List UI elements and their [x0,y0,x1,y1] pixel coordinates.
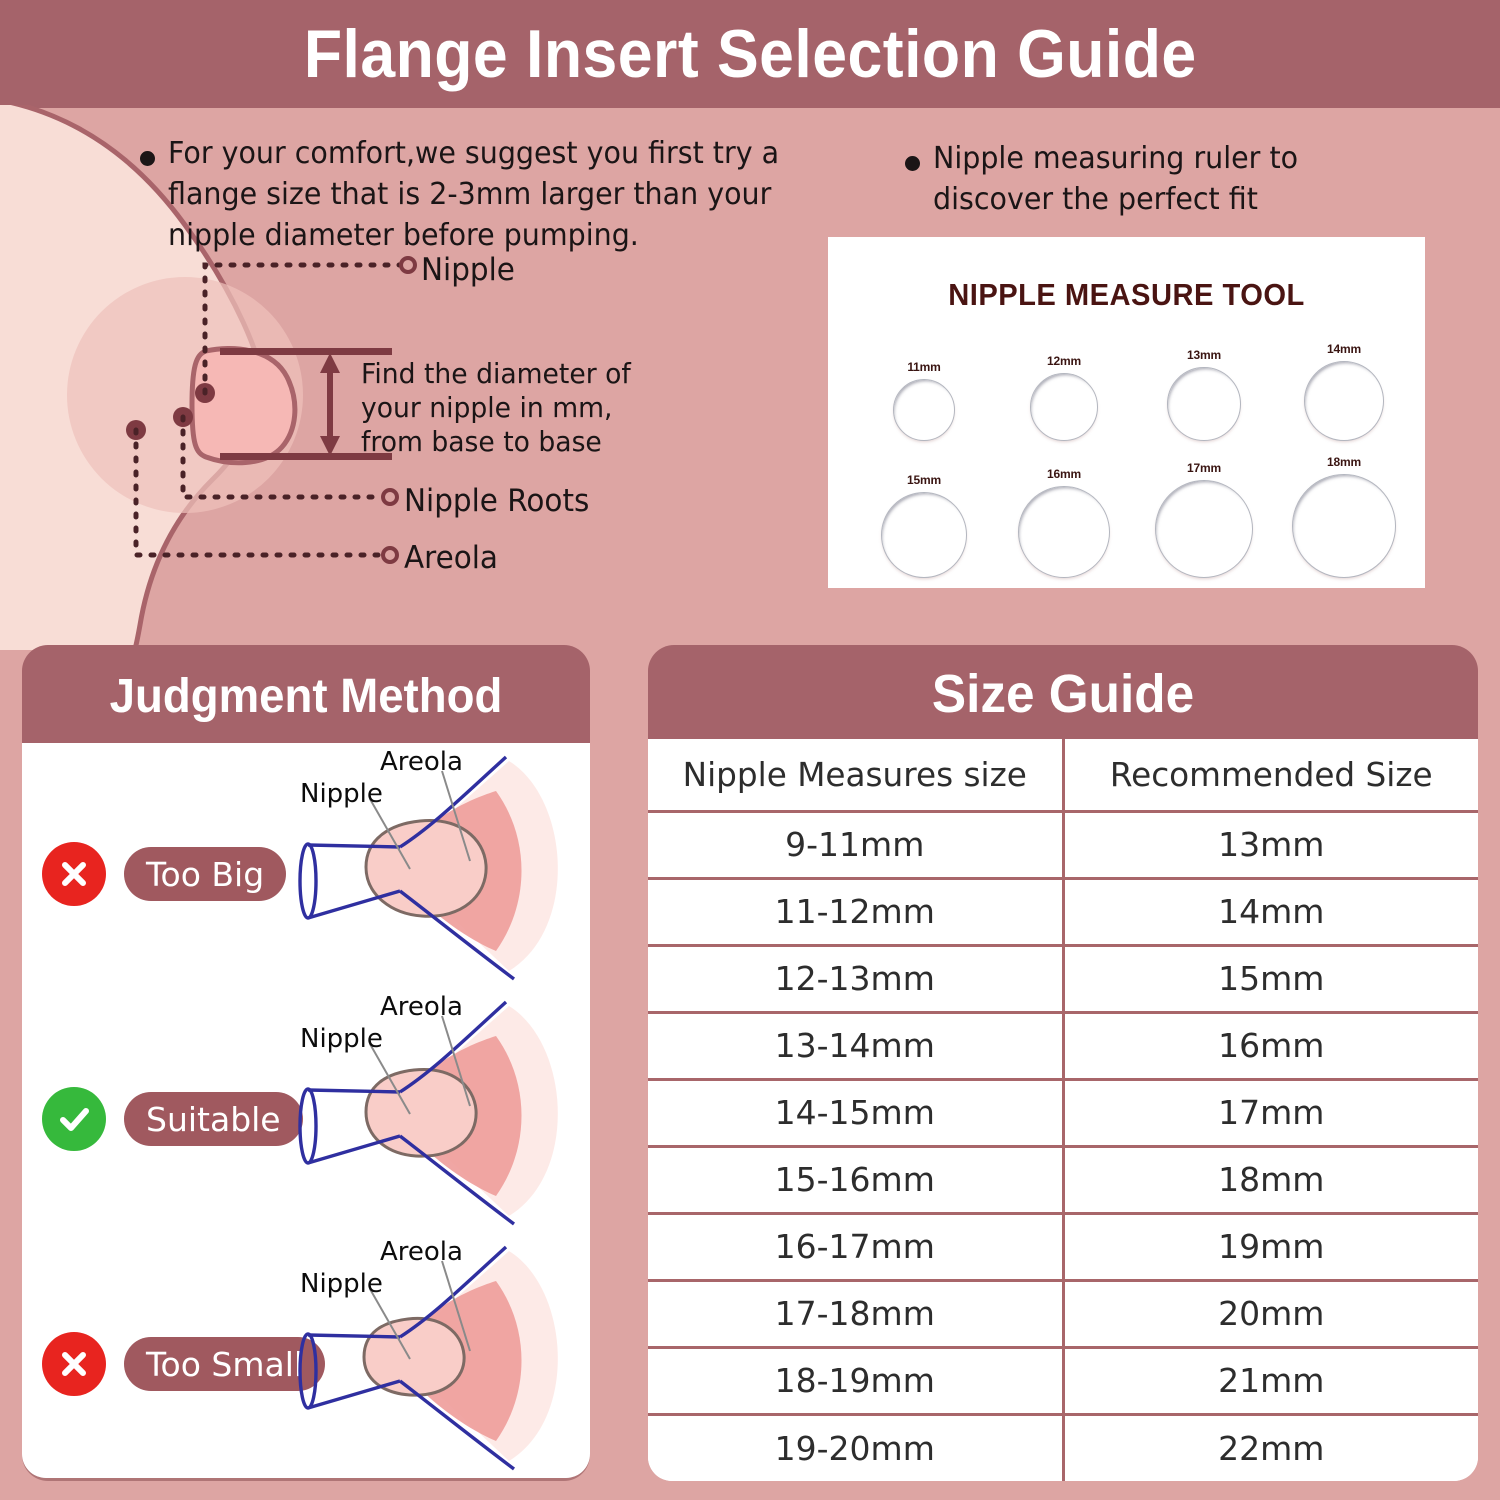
flange-mouth-ellipse [300,844,316,918]
table-cell: 16mm [1063,1012,1478,1079]
measure-circle-cell[interactable]: 13mm [1144,348,1264,441]
measure-arrow-head-top [320,353,340,373]
table-cell: 14-15mm [648,1079,1063,1146]
table-cell: 14mm [1063,878,1478,945]
cross-icon [42,842,106,906]
judgment-method-panel: Judgment Method Too BigNippleAreolaSuita… [22,645,590,1478]
check-icon [42,1087,106,1151]
bullet-point-icon [140,151,155,166]
nipple-in-flange [366,1069,476,1156]
table-row: 9-11mm13mm [648,811,1478,878]
table-cell: 15-16mm [648,1146,1063,1213]
measure-circle-label: 11mm [907,360,940,374]
bullet-point-icon [905,156,920,171]
measure-circle-label: 13mm [1187,348,1221,362]
table-row: 14-15mm17mm [648,1079,1478,1146]
judgment-row: Too SmallNippleAreola [22,1233,590,1478]
table-row: 17-18mm20mm [648,1280,1478,1347]
table-cell: 9-11mm [648,811,1063,878]
measure-circle-ring [1030,373,1098,441]
measure-instruction-text: Find the diameter ofyour nipple in mm,fr… [361,357,631,459]
table-row: 18-19mm21mm [648,1347,1478,1414]
measure-circle-label: 14mm [1327,342,1361,356]
comfort-tip-bullet: For your comfort,we suggest you first tr… [140,133,820,256]
table-cell: 20mm [1063,1280,1478,1347]
table-cell: 12-13mm [648,945,1063,1012]
table-cell: 13mm [1063,811,1478,878]
table-cell: 11-12mm [648,878,1063,945]
table-cell: 22mm [1063,1414,1478,1481]
measure-circle-ring [1167,367,1241,441]
areola-leader-endpoint [383,548,397,562]
nipple-in-flange [366,821,486,917]
table-cell: 17mm [1063,1079,1478,1146]
flange-mouth-ellipse [300,1334,316,1408]
label-nipple: Nipple [421,252,515,288]
measure-circle-cell[interactable]: 16mm [1004,467,1124,578]
measure-circle-label: 16mm [1047,467,1081,481]
page-header: Flange Insert Selection Guide [0,0,1500,108]
measure-circle-cell[interactable]: 18mm [1284,455,1404,578]
measure-circle-label: 17mm [1187,461,1221,475]
table-cell: 21mm [1063,1347,1478,1414]
infographic-page: Flange Insert Selection Guide For your c… [0,0,1500,1500]
table-row: 16-17mm19mm [648,1213,1478,1280]
measure-circle-cell[interactable]: 11mm [864,360,984,441]
nipple-in-flange [364,1318,464,1395]
judgment-row: SuitableNippleAreola [22,988,590,1233]
measure-circle-label: 18mm [1327,455,1361,469]
table-cell: 18-19mm [648,1347,1063,1414]
table-cell: 17-18mm [648,1280,1063,1347]
measure-circle-ring [893,379,955,441]
size-guide-title: Size Guide [669,663,1458,725]
table-cell: 19mm [1063,1213,1478,1280]
nipple-shape [192,348,295,462]
measure-circle-cell[interactable]: 12mm [1004,354,1124,441]
flange-label-nipple: Nipple [300,1024,383,1054]
table-row: 15-16mm18mm [648,1146,1478,1213]
label-areola: Areola [404,540,498,576]
measure-instruction-line: Find the diameter of [361,357,631,391]
flange-mouth-ellipse [300,1089,316,1163]
measure-circle-cell[interactable]: 14mm [1284,342,1404,441]
table-cell: 19-20mm [648,1414,1063,1481]
measure-circle-ring [1292,474,1396,578]
measure-bar-top [220,348,392,355]
flange-label-areola: Areola [380,747,463,777]
label-nipple-roots: Nipple Roots [404,483,589,519]
ruler-tip-bullet: Nipple measuring ruler to discover the p… [905,138,1425,220]
measure-circle-ring [881,492,967,578]
measure-instruction-line: from base to base [361,425,631,459]
judgment-row: Too BigNippleAreola [22,743,590,988]
measure-circle-label: 15mm [907,473,941,487]
measure-circle-ring [1304,361,1384,441]
nipple-leader-endpoint [401,258,415,272]
flange-label-nipple: Nipple [300,779,383,809]
table-row: 13-14mm16mm [648,1012,1478,1079]
measure-circle-row-bottom: 15mm16mm17mm18mm [864,455,1404,578]
size-guide-table: Nipple Measures sizeRecommended Size9-11… [648,739,1478,1481]
table-cell: 16-17mm [648,1213,1063,1280]
table-cell: 13-14mm [648,1012,1063,1079]
measure-circle-cell[interactable]: 17mm [1144,461,1264,578]
nipple-roots-leader-endpoint [383,490,397,504]
measure-circle-ring [1155,480,1253,578]
judgment-method-body: Too BigNippleAreolaSuitableNippleAreolaT… [22,743,590,1478]
table-header-row: Nipple Measures sizeRecommended Size [648,739,1478,811]
size-guide-panel: Size Guide Nipple Measures sizeRecommend… [648,645,1478,1478]
table-column-header: Nipple Measures size [650,739,1061,811]
page-title: Flange Insert Selection Guide [304,15,1197,93]
flange-label-areola: Areola [380,1237,463,1267]
comfort-tip-text: For your comfort,we suggest you first tr… [168,133,787,256]
cross-icon [42,1332,106,1396]
table-row: 12-13mm15mm [648,945,1478,1012]
flange-label-areola: Areola [380,992,463,1022]
measure-instruction-line: your nipple in mm, [361,391,631,425]
status-badge: Too Big [124,847,286,901]
measure-circle-cell[interactable]: 15mm [864,473,984,578]
judgment-method-title: Judgment Method [36,669,576,724]
measure-circle-ring [1018,486,1110,578]
table-row: 19-20mm22mm [648,1414,1478,1481]
ruler-tip-text: Nipple measuring ruler to discover the p… [933,138,1400,220]
measure-tool-title: NIPPLE MEASURE TOOL [846,277,1407,313]
table-row: 11-12mm14mm [648,878,1478,945]
nipple-measure-tool-card: NIPPLE MEASURE TOOL 11mm12mm13mm14mm 15m… [828,237,1425,588]
table-cell: 15mm [1063,945,1478,1012]
flange-label-nipple: Nipple [300,1269,383,1299]
table-column-header: Recommended Size [1065,739,1476,811]
measure-circle-label: 12mm [1047,354,1081,368]
measure-circle-row-top: 11mm12mm13mm14mm [864,342,1404,441]
table-cell: 18mm [1063,1146,1478,1213]
